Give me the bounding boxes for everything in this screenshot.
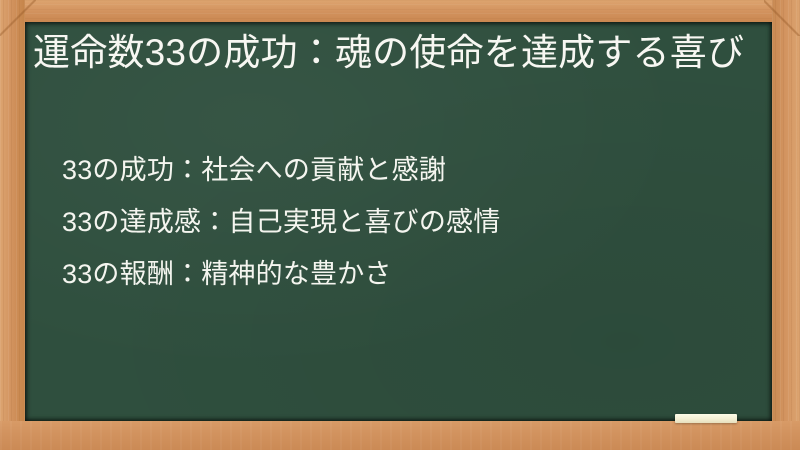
frame-ledge-bottom: [0, 421, 800, 450]
list-item: 33の報酬：精神的な豊かさ: [62, 248, 762, 300]
chalkboard-graphic: 運命数33の成功：魂の使命を達成する喜び 33の成功：社会への貢献と感謝 33の…: [0, 0, 800, 450]
content-list: 33の成功：社会への貢献と感謝 33の達成感：自己実現と喜びの感情 33の報酬：…: [62, 144, 762, 300]
frame-rail-right: [772, 0, 800, 450]
page-title: 運命数33の成功：魂の使命を達成する喜び: [33, 28, 753, 78]
frame-rail-left: [0, 0, 25, 450]
list-item: 33の達成感：自己実現と喜びの感情: [62, 196, 762, 248]
frame-rail-top: [0, 0, 800, 23]
chalk-stick: [675, 414, 737, 423]
chalkboard-surface: 運命数33の成功：魂の使命を達成する喜び 33の成功：社会への貢献と感謝 33の…: [25, 22, 772, 421]
list-item: 33の成功：社会への貢献と感謝: [62, 144, 762, 196]
